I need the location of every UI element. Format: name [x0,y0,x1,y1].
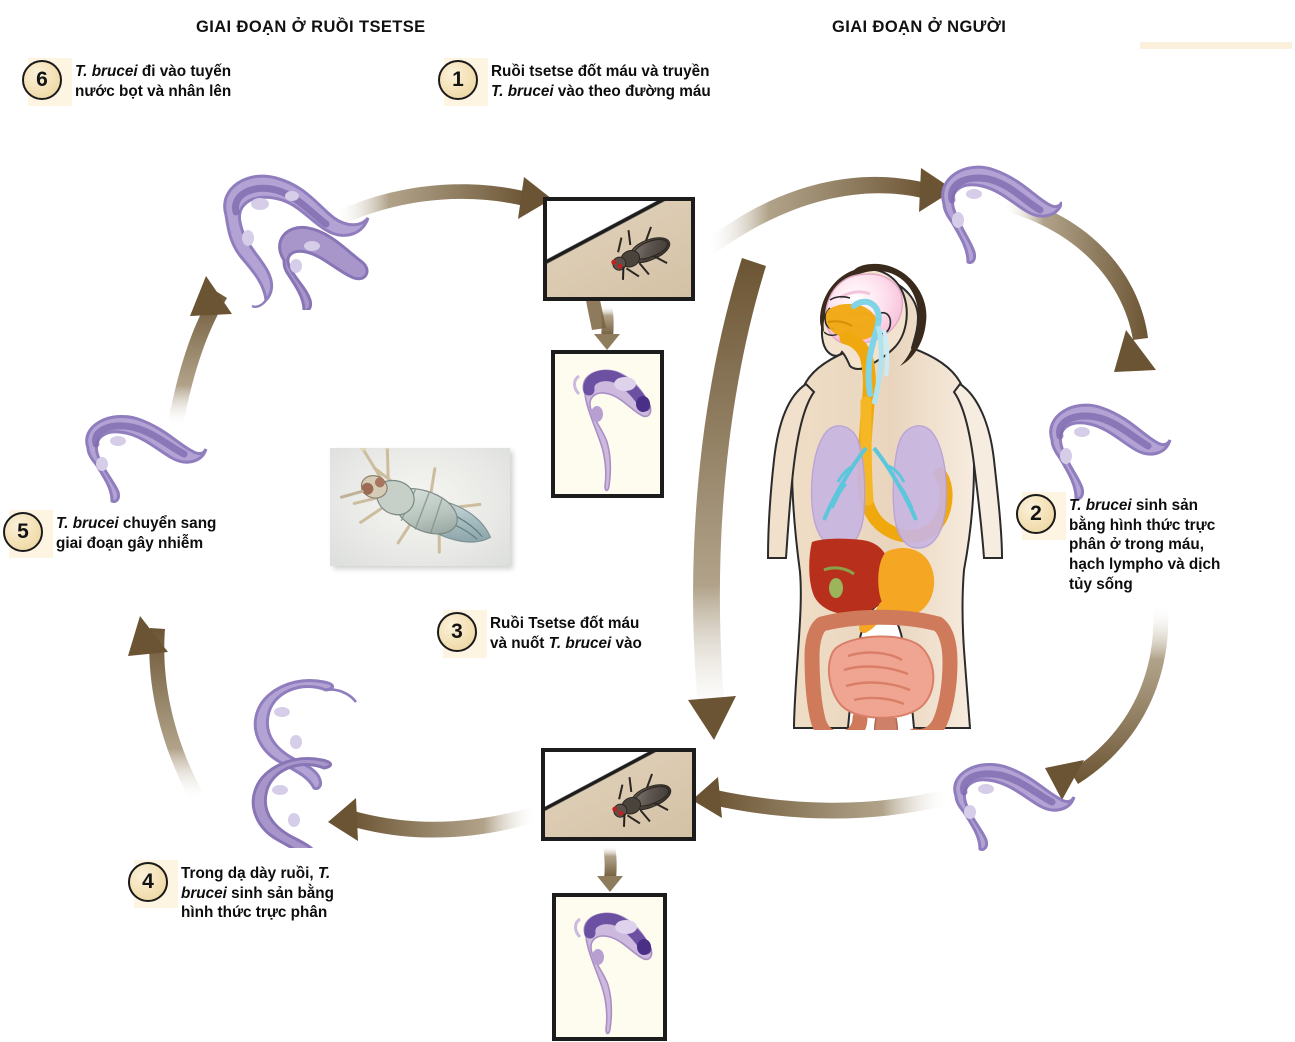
step-text-5: T. brucei chuyển sang giai đoạn gây nhiễ… [56,512,216,553]
step-badge-wrap-1: 1 [438,60,482,104]
step-number-3: 3 [437,612,477,652]
step-badge-wrap-5: 5 [3,512,47,556]
fly-bite-illustration-bottom [541,748,696,841]
species-name: T. brucei [56,515,119,532]
heading-fly-stage: GIAI ĐOẠN Ở RUỒI TSETSE [196,18,426,37]
step-text-3-line1: Ruồi Tsetse đốt máu [490,615,639,632]
species-name: T. brucei [549,635,612,652]
step-text-1: Ruồi tsetse đốt máu và truyềnT. brucei v… [491,60,711,101]
diagram-canvas: GIAI ĐOẠN Ở RUỒI TSETSE GIAI ĐOẠN Ở NGƯỜ… [0,0,1295,1042]
step-callout-4: 4 Trong dạ dày ruồi, T.brucei sinh sản b… [128,862,388,923]
trypanosome-parasite-figure [238,668,368,848]
tsetse-fly-photo [330,448,510,566]
step-text-3: Ruồi Tsetse đốt máuvà nuốt T. brucei vào [490,612,642,653]
trypanosome-cell-stain [559,360,664,496]
trypanosome-cell-stain [560,903,665,1039]
step-number-5: 5 [3,512,43,552]
trypanosome-parasite-figure [70,404,210,514]
step-callout-6: 6 T. brucei đi vào tuyến nước bọt và nhâ… [22,60,322,104]
trypanosome-parasite-figure [938,752,1078,862]
step-text-1-line1: Ruồi tsetse đốt máu và truyền [491,63,709,80]
step-text-6: T. brucei đi vào tuyến nước bọt và nhân … [75,60,231,101]
species-name: T. brucei [1069,497,1132,514]
step-badge-wrap-2: 2 [1016,494,1060,538]
step-number-1: 1 [438,60,478,100]
step-badge-wrap-3: 3 [437,612,481,656]
decorative-rule [1140,42,1292,49]
step-badge-wrap-6: 6 [22,60,66,104]
trypanosome-micrograph-top [551,350,664,498]
step-number-4: 4 [128,862,168,902]
human-anatomy-illustration [762,252,1030,730]
fly-bite-illustration-top [543,197,695,301]
step-callout-5: 5 T. brucei chuyển sang giai đoạn gây nh… [3,512,293,556]
step-text-4: Trong dạ dày ruồi, T.brucei sinh sản bằn… [181,862,334,923]
step-callout-3: 3 Ruồi Tsetse đốt máuvà nuốt T. brucei v… [437,612,717,656]
step-text-2: T. brucei sinh sản bằng hình thức trực p… [1069,494,1220,595]
heading-human-stage: GIAI ĐOẠN Ở NGƯỜI [832,18,1006,37]
step-number-2: 2 [1016,494,1056,534]
step-callout-1: 1 Ruồi tsetse đốt máu và truyềnT. brucei… [438,60,758,104]
species-name: T. brucei [491,83,554,100]
species-name: T. brucei [75,63,138,80]
trypanosome-parasite-figure [196,160,376,310]
step-callout-2: 2 T. brucei sinh sản bằng hình thức trực… [1016,494,1286,595]
step-badge-wrap-4: 4 [128,862,172,906]
trypanosome-micrograph-bottom [552,893,667,1041]
step-number-6: 6 [22,60,62,100]
